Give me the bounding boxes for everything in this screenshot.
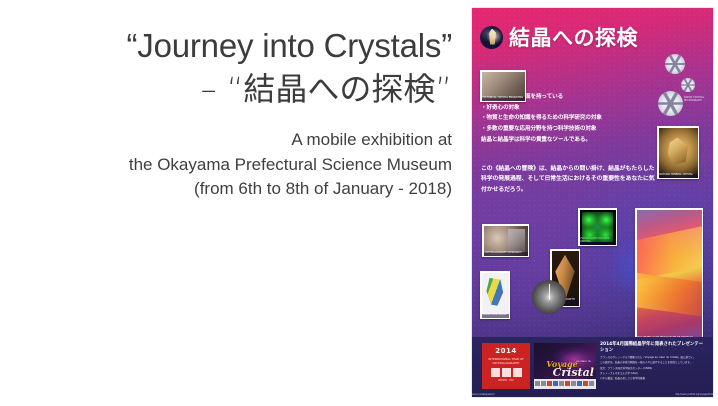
subtitle-line-2: the Okayama Prefectural Science Museum xyxy=(10,153,452,178)
poster-body-line: ・物質と生命の知識を得るための科学研究の対象 xyxy=(481,113,656,124)
strip-thumb xyxy=(541,381,546,386)
strip-thumb xyxy=(565,381,570,386)
photo-colorful-model: MOLECULAR MODEL xyxy=(480,271,510,319)
photo-caption: CRYSTALLOGRAPHY RESEARCH xyxy=(484,252,528,256)
voyage-word-cristal: Cristal xyxy=(553,366,594,379)
strip-thumb xyxy=(571,381,576,386)
presentation-slide: “Journey into Crystals” – “結晶への探検” A mob… xyxy=(0,0,718,406)
crystal-moon-logo-icon xyxy=(480,26,503,49)
footer-paragraph: 協力：フランス国立科学研究センター (CNRS) xyxy=(600,367,706,371)
photo-people-lab: CRYSTALLOGRAPHY RESEARCH xyxy=(482,224,529,257)
exhibition-poster-image: 結晶への探検 SNOW CRYSTAL MICROGRAPH 結晶は数多くの側面… xyxy=(472,8,713,397)
photo-polarized-light: POLARIZED LIGHT MICROGRAPH OF CRYSTALS xyxy=(635,208,703,342)
strip-thumb xyxy=(583,381,588,386)
strip-thumb xyxy=(553,381,558,386)
poster-body-line: 結晶と結晶学は科学の貴重なツールである。 xyxy=(481,135,656,146)
footer-paragraph: フランスのグレノーブルで開催された「Voyage au cœur du Cris… xyxy=(600,356,706,360)
photo-image: MOLECULAR MODEL xyxy=(482,273,509,318)
footer-link-right[interactable]: http://www.iycr2014.org/voyage/2014 xyxy=(675,394,713,396)
iycr-footer-label: UNESCO · IUCr xyxy=(484,379,528,382)
poster-body-text-block-2: この《結晶への冒険》は、結晶からの問い掛け、結晶がもたらした科学の発展過程、そし… xyxy=(481,164,659,195)
partner-logo-mark xyxy=(513,368,522,377)
footer-links: www.crystallography.fr http://www.iycr20… xyxy=(472,394,713,396)
iycr-partner-logos xyxy=(484,368,528,377)
photo-image: NATURAL MINERAL CRYSTAL xyxy=(659,128,698,178)
page-title: “Journey into Crystals” – “結晶への探検” xyxy=(10,24,452,110)
title-line-japanese: – “結晶への探検” xyxy=(10,68,452,111)
strip-thumb xyxy=(535,381,540,386)
poster-body-paragraph: この《結晶への冒険》は、結晶からの問い掛け、結晶がもたらした科学の発展過程、そし… xyxy=(481,164,659,195)
footer-heading: 2014年4月国際結晶学年に発表されたプレゼンテーション xyxy=(600,342,706,353)
subtitle-line-3: (from 6th to 8th of January - 2018) xyxy=(10,177,452,202)
photo-diffraction-sphere xyxy=(532,280,566,314)
poster-footer-text: 2014年4月国際結晶学年に発表されたプレゼンテーション フランスのグレノーブル… xyxy=(600,342,706,383)
poster-title: 結晶への探検 xyxy=(509,22,638,52)
photo-caption: FLUORESCENT PROTEIN CRYSTAL xyxy=(580,238,616,245)
snowflake-icon xyxy=(665,54,685,74)
title-line-english: “Journey into Crystals” xyxy=(10,24,452,68)
iycr-2014-logo: 2014 INTERNATIONAL YEAR OF CRYSTALLOGRAP… xyxy=(482,343,530,389)
photo-caption: HISTORICAL CRYSTAL ENGRAVING xyxy=(482,97,525,101)
strip-thumb xyxy=(577,381,582,386)
snowflake-icon xyxy=(681,78,695,92)
footer-link-left[interactable]: www.crystallography.fr xyxy=(472,394,495,396)
photo-caption: NATURAL MINERAL CRYSTAL xyxy=(659,174,698,178)
poster-body-line: ・好奇心の対象 xyxy=(481,103,656,114)
photo-image xyxy=(532,280,566,314)
photo-image: HISTORICAL CRYSTAL ENGRAVING xyxy=(482,72,525,101)
photo-image: POLARIZED LIGHT MICROGRAPH OF CRYSTALS xyxy=(637,210,702,341)
photo-image: CRYSTALLOGRAPHY RESEARCH xyxy=(484,226,528,256)
strip-thumb xyxy=(547,381,552,386)
voyage-au-coeur-du-cristal-banner: Voyage au cœur du Cristal xyxy=(534,343,596,389)
poster-body-line: ・多数の重要な応用分野を持つ科学技術の対象 xyxy=(481,124,656,135)
voyage-thumbnail-strip xyxy=(534,379,596,389)
slide-text-column: “Journey into Crystals” – “結晶への探検” A mob… xyxy=(0,0,462,406)
strip-thumb xyxy=(559,381,564,386)
photo-old-engraving: HISTORICAL CRYSTAL ENGRAVING xyxy=(480,70,526,102)
iycr-year-label: 2014 xyxy=(484,347,528,355)
subtitle-line-1: A mobile exhibition at xyxy=(10,128,452,153)
photo-caption: MOLECULAR MODEL xyxy=(482,314,509,318)
partner-logo-mark xyxy=(502,368,511,377)
snowflake-caption: SNOW CRYSTAL MICROGRAPH xyxy=(684,96,708,102)
snowflake-icon xyxy=(658,91,683,116)
footer-paragraph: グレノーブルネオエル大学 (UGA) xyxy=(600,372,706,376)
slide-subtitle: A mobile exhibition at the Okayama Prefe… xyxy=(10,128,452,202)
partner-logo-mark xyxy=(491,368,500,377)
iycr-subtitle: INTERNATIONAL YEAR OF CRYSTALLOGRAPHY xyxy=(484,358,528,365)
voyage-word-au-coeur-du: au cœur du xyxy=(576,360,591,363)
poster-footer: 2014 INTERNATIONAL YEAR OF CRYSTALLOGRAP… xyxy=(472,337,713,397)
photo-image: FLUORESCENT PROTEIN CRYSTAL xyxy=(580,210,616,245)
photo-green-fluorescence: FLUORESCENT PROTEIN CRYSTAL xyxy=(578,208,617,246)
footer-paragraph: パネル構成：結晶の美しさと科学的意義 xyxy=(600,377,706,381)
poster-header: 結晶への探検 xyxy=(480,22,638,52)
strip-thumb xyxy=(589,381,594,386)
footer-paragraph: この展示は、結晶の多様な側面を一般の人々に紹介することを目的としています。 xyxy=(600,361,706,365)
photo-mineral-specimen: NATURAL MINERAL CRYSTAL xyxy=(657,126,699,179)
